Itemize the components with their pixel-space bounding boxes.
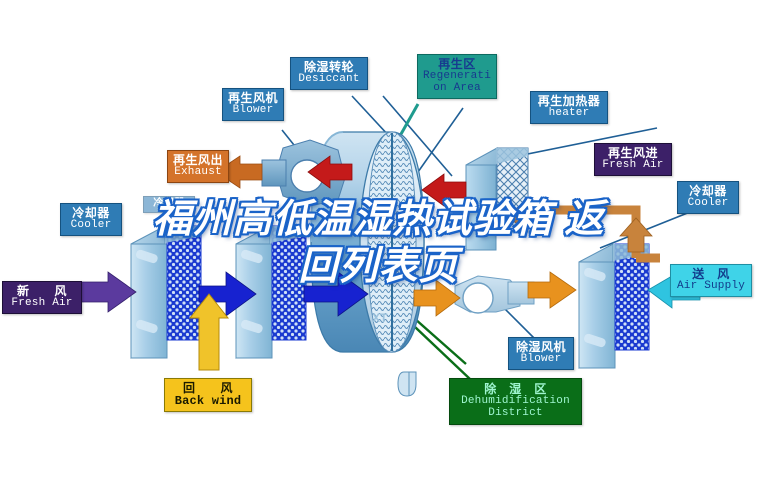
- label-dehumidification-area[interactable]: 除 湿 区 Dehumidification District: [449, 378, 582, 425]
- label-dehum-blower-cn: 除湿风机: [511, 341, 571, 354]
- label-dehum-blower-en: Blower: [511, 354, 571, 366]
- label-desiccant[interactable]: 除湿转轮 Desiccant: [290, 57, 368, 90]
- arrow-regen-red-right: [422, 174, 466, 206]
- label-cooler-hidden: 冷却器: [143, 196, 195, 213]
- arrow-fresh-air-inlet: [78, 272, 136, 312]
- label-cooler-left-cn: 冷却器: [63, 207, 119, 220]
- label-air-supply-cn: 送 风: [673, 268, 749, 281]
- label-back-wind-cn: 回 风: [167, 382, 249, 395]
- arrow-dehum-2: [528, 272, 576, 308]
- label-regen-area-en2: on Area: [420, 83, 494, 95]
- label-back-wind-en: Back wind: [167, 395, 249, 408]
- svg-text:XT: XT: [372, 311, 388, 325]
- label-dehum-area-en2: District: [452, 408, 579, 420]
- label-air-supply[interactable]: 送 风 Air Supply: [670, 264, 752, 297]
- label-cooler-left-en: Cooler: [63, 220, 119, 232]
- regeneration-heater-block: [466, 148, 528, 250]
- label-fresh-air[interactable]: 新 风 Fresh Air: [2, 281, 82, 314]
- label-desiccant-cn: 除湿转轮: [293, 61, 365, 74]
- label-fresh-air-en: Fresh Air: [5, 298, 79, 310]
- label-regen-heater-cn: 再生加热器: [533, 95, 605, 108]
- label-regen-blower-cn: 再生风机: [225, 92, 281, 105]
- cooler-block-right: [579, 244, 649, 368]
- label-cooler-left[interactable]: 冷却器 Cooler: [60, 203, 122, 236]
- label-exhaust-en: Exhaust: [170, 167, 226, 179]
- label-air-supply-en: Air Supply: [673, 281, 749, 293]
- label-exhaust-cn: 再生风出: [170, 154, 226, 167]
- label-regeneration-blower[interactable]: 再生风机 Blower: [222, 88, 284, 121]
- dehumidification-blower-fan: [455, 276, 534, 313]
- label-fresh-air-cn: 新 风: [5, 285, 79, 298]
- label-regeneration-area[interactable]: 再生区 Regenerati on Area: [417, 54, 497, 99]
- label-regen-fresh-cn: 再生风进: [597, 147, 669, 160]
- label-exhaust[interactable]: 再生风出 Exhaust: [167, 150, 229, 183]
- label-regeneration-fresh-air[interactable]: 再生风进 Fresh Air: [594, 143, 672, 176]
- label-regeneration-heater[interactable]: 再生加热器 heater: [530, 91, 608, 124]
- label-cooler-right-cn: 冷却器: [680, 185, 736, 198]
- label-desiccant-en: Desiccant: [293, 74, 365, 86]
- label-cooler-right-en: Cooler: [680, 198, 736, 210]
- diagram-canvas: XT: [0, 0, 757, 488]
- label-regen-blower-en: Blower: [225, 105, 281, 117]
- label-cooler-right[interactable]: 冷却器 Cooler: [677, 181, 739, 214]
- label-cooler-hidden-cn: 冷却器: [147, 199, 191, 210]
- label-regen-heater-en: heater: [533, 108, 605, 120]
- cooler-block-left: [131, 226, 201, 358]
- schematic-artwork: XT: [0, 0, 757, 488]
- label-regen-fresh-en: Fresh Air: [597, 160, 669, 172]
- label-dehum-area-cn: 除 湿 区: [452, 383, 579, 396]
- label-dehumidification-blower[interactable]: 除湿风机 Blower: [508, 337, 574, 370]
- label-back-wind[interactable]: 回 风 Back wind: [164, 378, 252, 412]
- label-regen-area-cn: 再生区: [420, 58, 494, 71]
